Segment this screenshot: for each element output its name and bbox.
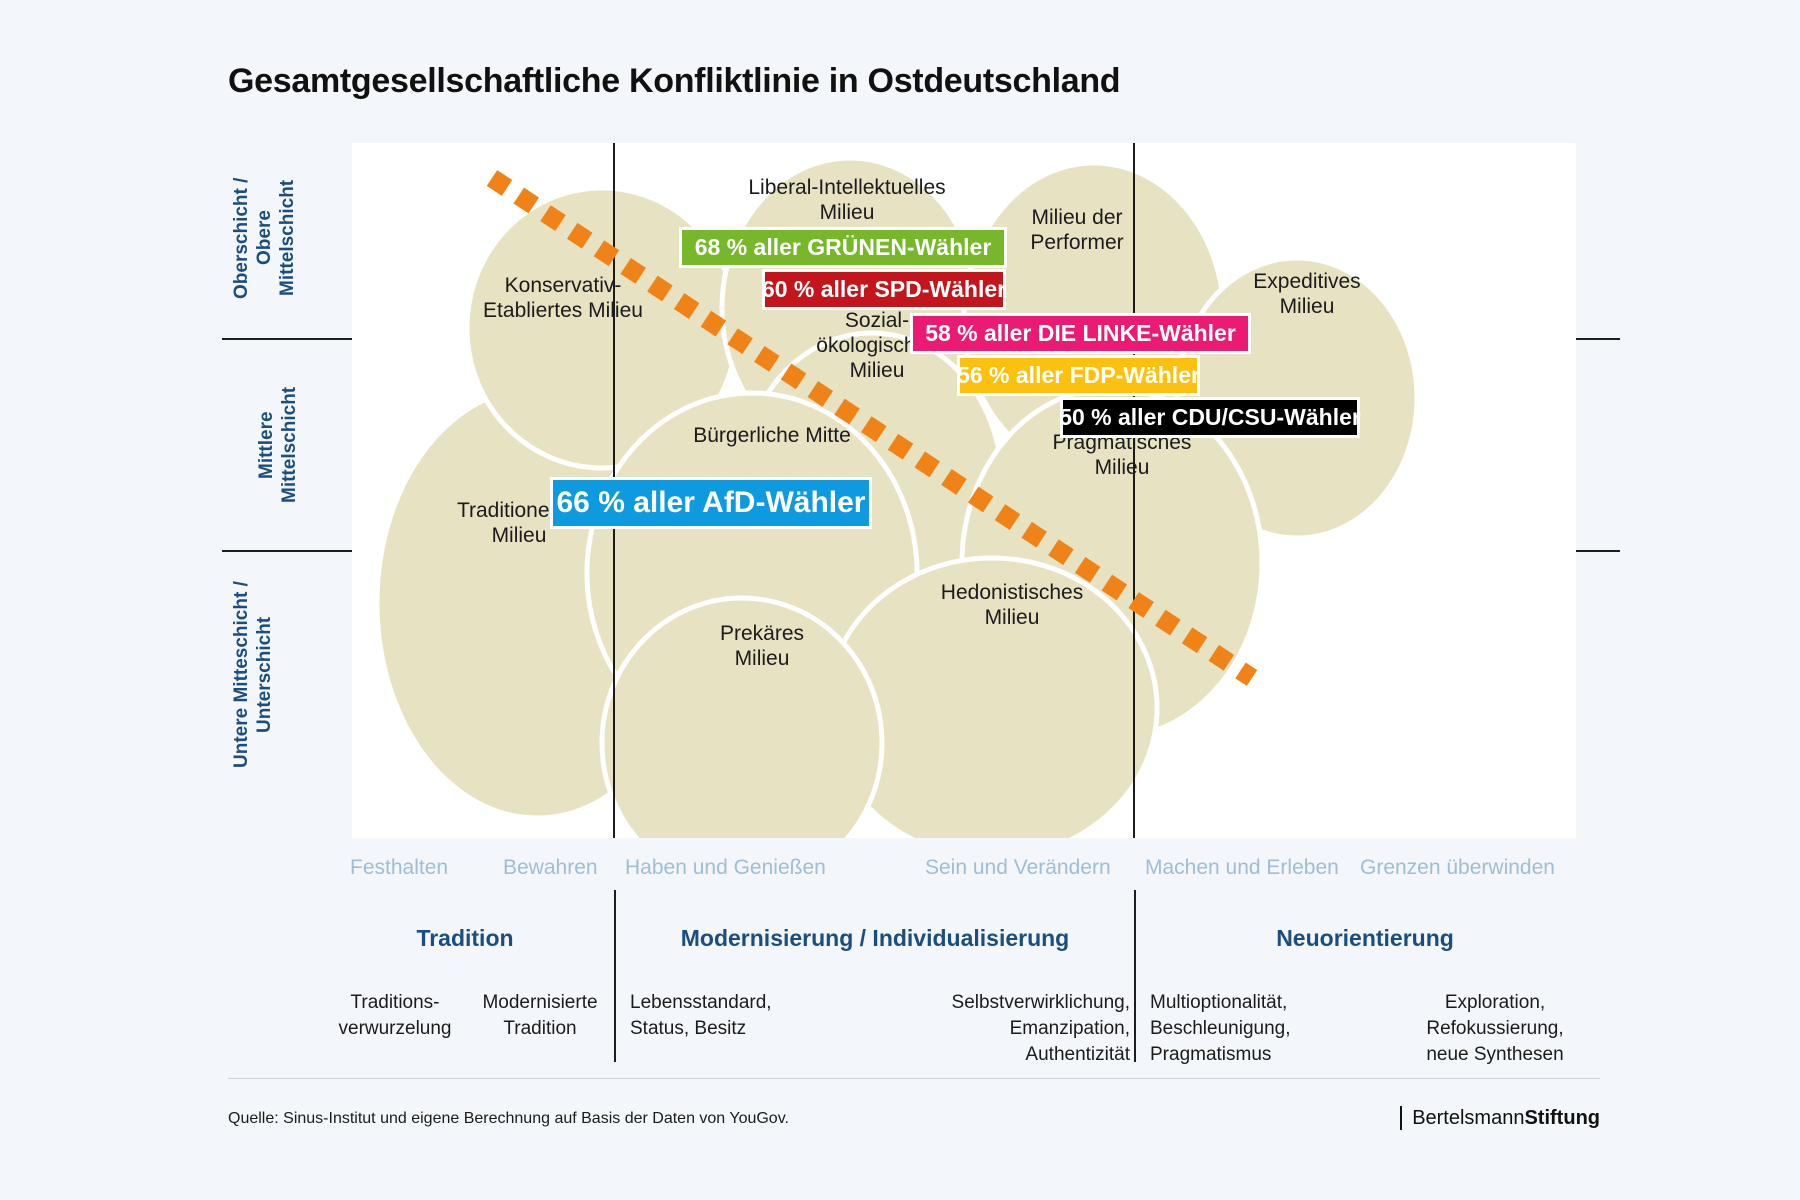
tier-divider-upper: [222, 338, 352, 340]
tier-divider-upper-right: [1576, 338, 1620, 340]
group-desc-lebensstandard: Lebensstandard, Status, Besitz: [630, 990, 860, 1042]
brand-name-light: Bertelsmann: [1412, 1107, 1524, 1129]
group-desc-traditionsverwurzelung: Traditions- verwurzelung: [320, 990, 470, 1042]
source-note: Quelle: Sinus-Institut und eigene Berech…: [228, 1110, 789, 1128]
milieu-label-buergerliche-mitte: Bürgerliche Mitte: [642, 423, 902, 448]
callout-cdu-csu[interactable]: 50 % aller CDU/CSU-Wähler: [1060, 397, 1360, 438]
y-axis-tier-mittlere-mittelschicht: Mittlere Mittelschicht: [255, 370, 301, 520]
callout-afd-label: 66 % aller AfD-Wähler: [557, 486, 866, 520]
tier-divider-lower-right: [1576, 550, 1620, 552]
legend-divider-a: [614, 890, 616, 1062]
milieu-label-prekaeres: Prekäres Milieu: [662, 621, 862, 671]
x-tick-bewahren: Bewahren: [503, 856, 598, 880]
x-tick-grenzen-ueberwinden: Grenzen überwinden: [1360, 856, 1555, 880]
callout-cdu-csu-label: 50 % aller CDU/CSU-Wähler: [1059, 404, 1361, 431]
callout-linke[interactable]: 58 % aller DIE LINKE-Wähler: [910, 313, 1251, 354]
group-title-neuorientierung: Neuorientierung: [1145, 925, 1585, 952]
milieu-label-expeditives: Expeditives Milieu: [1207, 269, 1407, 319]
milieu-label-milieu-der-performer: Milieu der Performer: [977, 205, 1177, 255]
group-desc-modernisierte-tradition: Modernisierte Tradition: [470, 990, 610, 1042]
group-desc-selbstverwirklichung: Selbstverwirklichung, Emanzipation, Auth…: [890, 990, 1130, 1068]
group-title-modernisierung: Modernisierung / Individualisierung: [620, 925, 1130, 952]
legend-divider-b: [1134, 890, 1136, 1062]
callout-afd[interactable]: 66 % aller AfD-Wähler: [550, 477, 872, 529]
callout-fdp-label: 56 % aller FDP-Wähler: [957, 362, 1200, 389]
x-tick-machen-und-erleben: Machen und Erleben: [1145, 856, 1339, 880]
sinus-milieu-plot: Konservativ- Etabliertes Milieu Liberal-…: [352, 143, 1576, 838]
milieu-label-konservativ-etabliertes: Konservativ- Etabliertes Milieu: [448, 273, 678, 323]
y-axis-tier-oberschicht: Oberschicht / Obere Mittelschicht: [230, 148, 299, 328]
group-title-tradition: Tradition: [330, 925, 600, 952]
milieu-label-hedonistisches: Hedonistisches Milieu: [902, 580, 1122, 630]
group-desc-exploration: Exploration, Refokussierung, neue Synthe…: [1390, 990, 1600, 1068]
brand-logo: BertelsmannStiftung: [1400, 1106, 1600, 1130]
page-title: Gesamtgesellschaftliche Konfliktlinie in…: [228, 62, 1120, 101]
milieu-label-liberal-intellektuelles: Liberal-Intellektuelles Milieu: [707, 175, 987, 225]
callout-fdp[interactable]: 56 % aller FDP-Wähler: [957, 355, 1200, 396]
brand-bar-icon: [1400, 1106, 1402, 1130]
callout-gruene-label: 68 % aller GRÜNEN-Wähler: [695, 234, 992, 261]
footer-divider: [228, 1078, 1600, 1079]
callout-linke-label: 58 % aller DIE LINKE-Wähler: [925, 320, 1236, 347]
y-axis-tier-untere-mitteschicht: Untere Mitteschicht / Unterschicht: [230, 560, 276, 790]
group-desc-multioptionalitaet: Multioptionalität, Beschleunigung, Pragm…: [1150, 990, 1380, 1068]
callout-gruene[interactable]: 68 % aller GRÜNEN-Wähler: [679, 227, 1007, 268]
callout-spd-label: 60 % aller SPD-Wähler: [762, 276, 1006, 303]
x-tick-festhalten: Festhalten: [350, 856, 448, 880]
x-tick-haben-und-geniessen: Haben und Genießen: [625, 856, 826, 880]
callout-spd[interactable]: 60 % aller SPD-Wähler: [762, 269, 1006, 310]
brand-name-bold: Stiftung: [1524, 1107, 1600, 1129]
tier-divider-lower: [222, 550, 352, 552]
x-tick-sein-und-veraendern: Sein und Verändern: [925, 856, 1111, 880]
